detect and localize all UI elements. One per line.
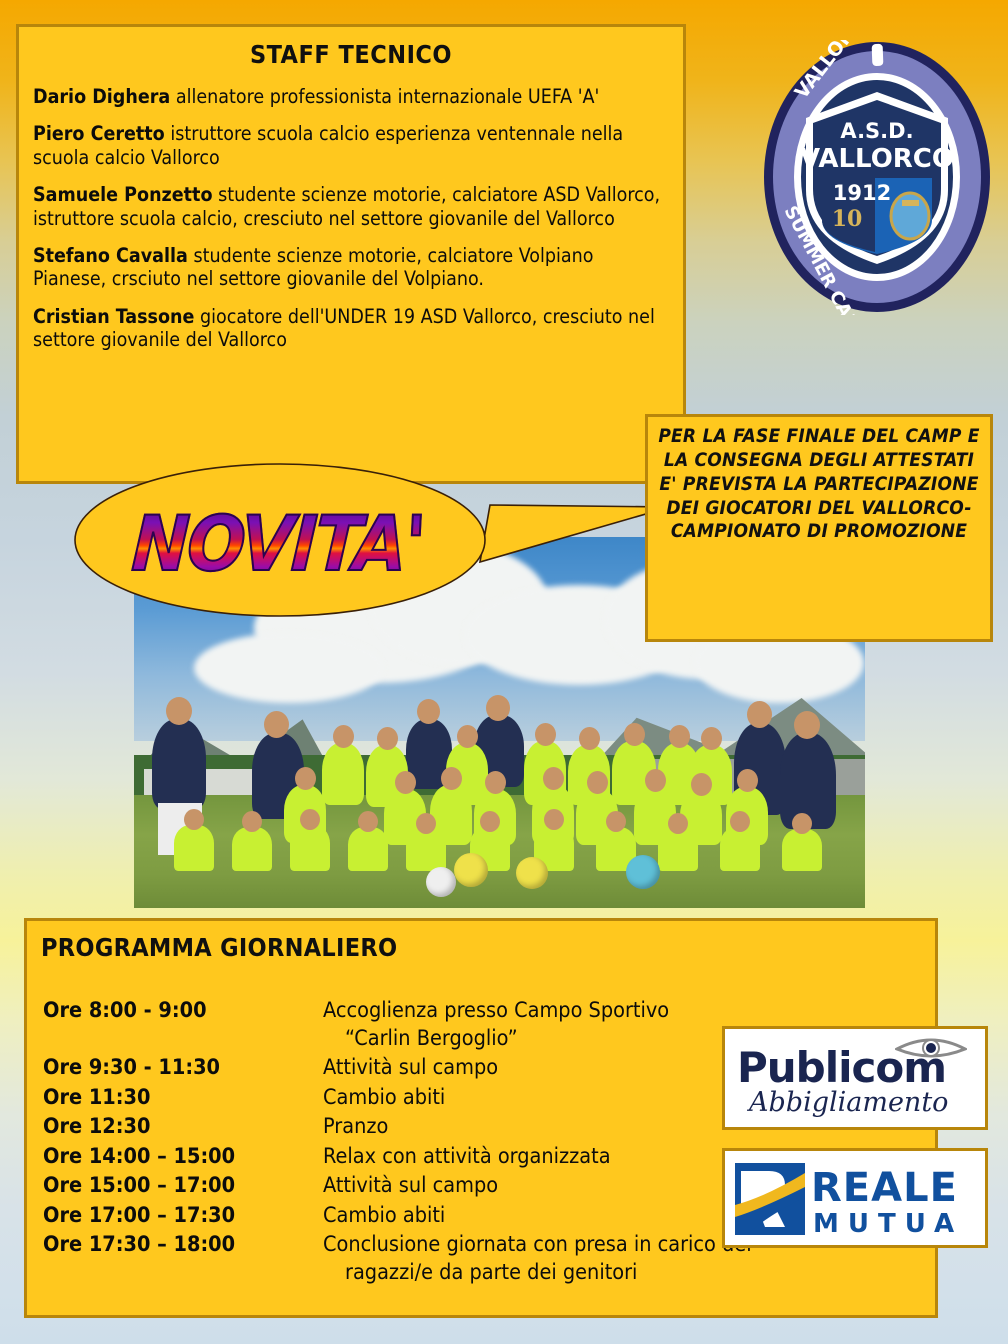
staff-member-role: allenatore professionista internazionale…	[176, 85, 600, 108]
schedule-activity: Cambio abiti	[319, 1201, 752, 1231]
sponsor-reale-subtitle: MUTUA	[813, 1209, 963, 1239]
staff-member: Piero Ceretto istruttore scuola calcio e…	[19, 122, 683, 169]
program-title: PROGRAMMA GIORNALIERO	[41, 933, 935, 962]
crest-shield-line1: A.S.D.	[840, 119, 913, 143]
camper-head	[441, 767, 462, 790]
camper-head	[606, 811, 626, 832]
schedule-row: Ore 8:00 - 9:00 Accoglienza presso Campo…	[43, 996, 752, 1053]
football	[516, 857, 548, 889]
schedule-time: Ore 15:00 – 17:00	[43, 1171, 319, 1201]
schedule-time: Ore 11:30	[43, 1083, 319, 1113]
staff-member-name: Piero Ceretto	[33, 122, 165, 145]
schedule-row: Ore 14:00 – 15:00 Relax con attività org…	[43, 1142, 752, 1172]
schedule-row: Ore 15:00 – 17:00 Attività sul campo	[43, 1171, 752, 1201]
staff-member-name: Dario Dighera	[33, 85, 170, 108]
camper-head	[691, 773, 712, 796]
camper-head	[333, 725, 354, 748]
staff-title: STAFF TECNICO	[19, 40, 683, 69]
schedule-row: Ore 11:30 Cambio abiti	[43, 1083, 752, 1113]
schedule-activity: Attività sul campo	[319, 1053, 752, 1083]
camper-head	[669, 725, 690, 748]
staff-member-name: Cristian Tassone	[33, 305, 194, 328]
camper	[232, 827, 272, 871]
schedule-activity-line2: ragazzi/e da parte dei genitori	[323, 1259, 752, 1287]
schedule-row: Ore 17:30 – 18:00 Conclusione giornata c…	[43, 1230, 752, 1287]
camper-head	[668, 813, 688, 834]
camper	[720, 827, 760, 871]
note-text: PER LA FASE FINALE DEL CAMP E LA CONSEGN…	[654, 425, 984, 544]
camper-head	[587, 771, 608, 794]
note-panel: PER LA FASE FINALE DEL CAMP E LA CONSEGN…	[645, 414, 993, 642]
schedule-activity: Pranzo	[319, 1112, 752, 1142]
crest-anniversary: 10	[832, 206, 863, 232]
sponsor-publicom-name: Publicom	[737, 1043, 946, 1092]
schedule-time: Ore 14:00 – 15:00	[43, 1142, 319, 1172]
camper-head	[624, 723, 645, 746]
novita-label: NOVITA'	[106, 506, 450, 582]
crest-shield-year: 1912	[833, 181, 891, 205]
schedule-activity: Attività sul campo	[319, 1171, 752, 1201]
poster-root: STAFF TECNICO Dario Dighera allenatore p…	[0, 0, 1008, 1344]
program-schedule-table: Ore 8:00 - 9:00 Accoglienza presso Campo…	[43, 996, 752, 1287]
schedule-activity: Relax con attività organizzata	[319, 1142, 752, 1172]
camper-head	[295, 767, 316, 790]
camper-head	[485, 771, 506, 794]
schedule-time: Ore 17:30 – 18:00	[43, 1230, 319, 1287]
vallorco-summer-camp-crest-logo: A.S.D. VALLORCO 1912 10 VALLORCO SUMMER …	[762, 40, 992, 315]
coach-head	[747, 701, 772, 728]
camper	[782, 829, 822, 871]
camper-head	[184, 809, 204, 830]
camper-head	[300, 809, 320, 830]
camper-head	[377, 727, 398, 750]
football	[426, 867, 456, 897]
camper-head	[457, 725, 478, 748]
camper-head	[242, 811, 262, 832]
camper-head	[792, 813, 812, 834]
sponsor-publicom[interactable]: Publicom Abbigliamento	[722, 1026, 988, 1130]
schedule-activity-line2: “Carlin Bergoglio”	[323, 1025, 752, 1053]
camper	[348, 827, 388, 871]
schedule-time: Ore 17:00 – 17:30	[43, 1201, 319, 1231]
schedule-row: Ore 9:30 - 11:30 Attività sul campo	[43, 1053, 752, 1083]
schedule-time: Ore 8:00 - 9:00	[43, 996, 319, 1053]
camper	[658, 829, 698, 871]
staff-member: Samuele Ponzetto studente scienze motori…	[19, 183, 683, 230]
camper-head	[395, 771, 416, 794]
sponsor-reale-name: REALE	[811, 1165, 958, 1211]
coach-head	[166, 697, 192, 725]
camper-head	[416, 813, 436, 834]
camper-head	[543, 767, 564, 790]
camper	[406, 829, 446, 871]
schedule-time: Ore 9:30 - 11:30	[43, 1053, 319, 1083]
camper-head	[730, 811, 750, 832]
camper-head	[645, 769, 666, 792]
crest-shield-line2: VALLORCO	[800, 144, 954, 174]
camper-head	[701, 727, 722, 750]
staff-panel: STAFF TECNICO Dario Dighera allenatore p…	[16, 24, 686, 484]
staff-member: Dario Dighera allenatore professionista …	[19, 85, 683, 108]
schedule-row: Ore 17:00 – 17:30 Cambio abiti	[43, 1201, 752, 1231]
schedule-activity: Accoglienza presso Campo Sportivo “Carli…	[319, 996, 752, 1053]
staff-member: Stefano Cavalla studente scienze motorie…	[19, 244, 683, 291]
camper-head	[737, 769, 758, 792]
sponsor-publicom-subtitle: Abbigliamento	[749, 1087, 948, 1118]
cloud	[194, 633, 384, 703]
coach	[152, 719, 206, 809]
camper	[290, 825, 330, 871]
schedule-time: Ore 12:30	[43, 1112, 319, 1142]
schedule-row: Ore 12:30 Pranzo	[43, 1112, 752, 1142]
staff-member: Cristian Tassone giocatore dell'UNDER 19…	[19, 305, 683, 352]
camper	[322, 743, 364, 805]
camper-head	[480, 811, 500, 832]
staff-member-name: Samuele Ponzetto	[33, 183, 213, 206]
reale-r-mark	[735, 1163, 805, 1235]
coach-head	[417, 699, 440, 724]
camper-head	[579, 727, 600, 750]
schedule-activity: Conclusione giornata con presa in carico…	[319, 1230, 752, 1287]
coach-head	[486, 695, 510, 721]
sponsor-reale-mutua[interactable]: REALE MUTUA	[722, 1148, 988, 1248]
coach-head	[794, 711, 820, 739]
coach-head	[264, 711, 289, 738]
schedule-activity-line1: Accoglienza presso Campo Sportivo	[323, 998, 669, 1023]
schedule-activity: Cambio abiti	[319, 1083, 752, 1113]
camper	[174, 825, 214, 871]
football	[626, 855, 660, 889]
schedule-activity-line1: Conclusione giornata con presa in carico…	[323, 1232, 752, 1257]
novita-speech-bubble: NOVITA'	[70, 462, 690, 632]
football	[454, 853, 488, 887]
camper-head	[358, 811, 378, 832]
staff-member-name: Stefano Cavalla	[33, 244, 188, 267]
camper-head	[535, 723, 556, 746]
camper-head	[544, 809, 564, 830]
